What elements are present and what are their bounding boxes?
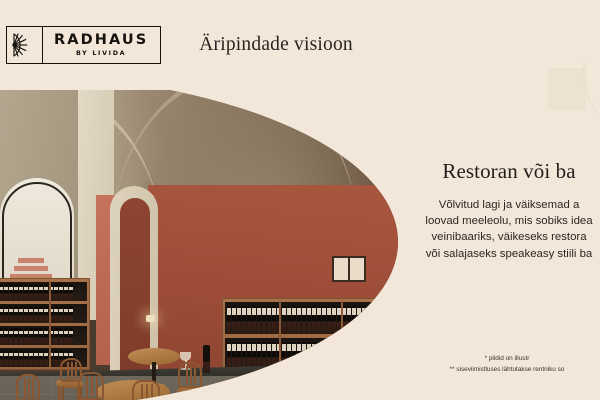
- content-headline: Restoran või ba: [402, 160, 600, 183]
- footnote-illustrative: * pildid on illustr: [402, 353, 600, 364]
- footnote-tenant-finish: ** siseviimistluses lähtutakse rentniku …: [402, 364, 600, 375]
- bar-stool: [300, 376, 326, 400]
- window-mullion: [348, 256, 350, 282]
- body-line: või salajaseks speakeasy stiili ba: [402, 246, 600, 262]
- footnotes: * pildid on illustr ** siseviimistluses …: [402, 353, 600, 375]
- page-title: Äripindade visioon: [199, 34, 353, 56]
- wall-sconce-light: [146, 315, 155, 322]
- wine-bottle-on-bar: [203, 345, 210, 373]
- spoked-wheel-icon: [7, 27, 43, 63]
- body-line: Võlvitud lagi ja väiksemad a: [402, 197, 600, 213]
- bar-stool: [360, 370, 386, 400]
- wine-shelf-left: [0, 278, 90, 370]
- logo-wordmark: RADHAUS BY LIVIDA: [43, 27, 160, 63]
- vaulted-wine-bar-interior-photo: [0, 90, 398, 400]
- body-line: veinibaariks, väikeseks restora: [402, 229, 600, 245]
- presentation-slide: RADHAUS BY LIVIDA Äripindade visioon: [0, 0, 600, 400]
- bar-stool: [228, 382, 254, 400]
- logo-subtitle: BY LIVIDA: [76, 51, 126, 57]
- content-column: Restoran või ba Võlvitud lagi ja väiksem…: [402, 160, 600, 262]
- logo-name: RADHAUS: [54, 33, 148, 48]
- wine-shelf-right: [222, 298, 398, 374]
- slide-header: RADHAUS BY LIVIDA Äripindade visioon: [0, 0, 600, 90]
- radhaus-logo[interactable]: RADHAUS BY LIVIDA: [6, 26, 161, 64]
- content-body: Võlvitud lagi ja väiksemad a loovad meel…: [402, 197, 600, 262]
- body-line: loovad meeleolu, mis sobiks idea: [402, 213, 600, 229]
